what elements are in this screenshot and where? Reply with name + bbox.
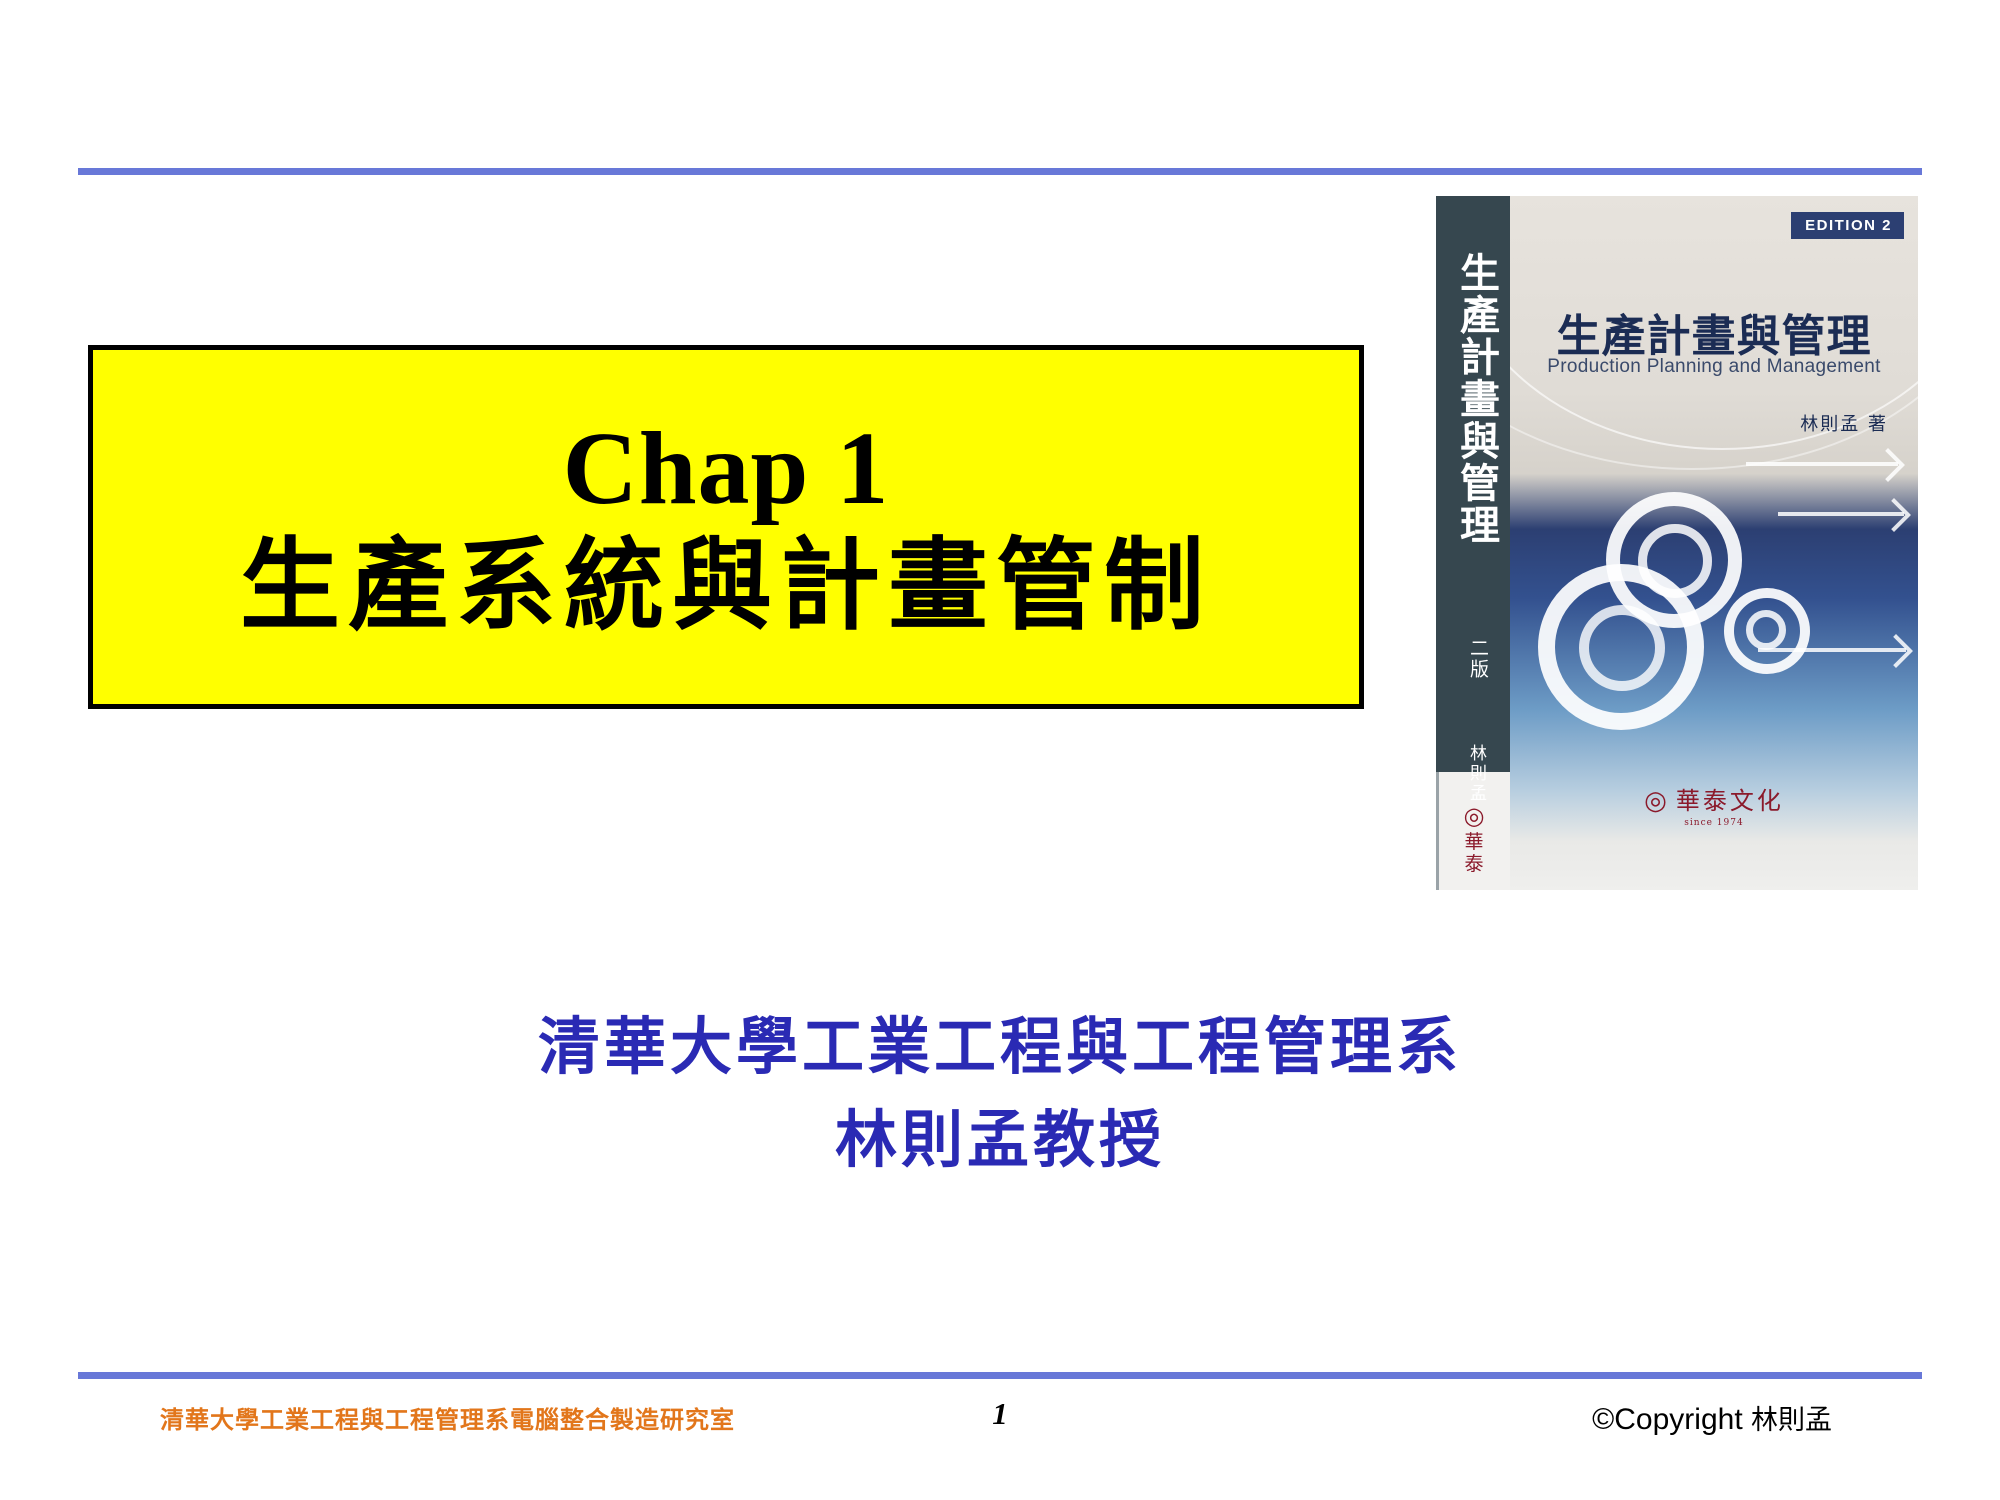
- book-front-author: 林則孟 著: [1800, 410, 1888, 436]
- book-spine-publisher: ◎ 華 泰: [1454, 804, 1494, 876]
- book-spine-title: 生產計畫與管理: [1448, 252, 1498, 546]
- footer-rule: [78, 1372, 1922, 1379]
- book-front-subtitle: Production Planning and Management: [1510, 356, 1918, 378]
- affiliation-professor: 林則孟教授: [0, 1093, 2000, 1186]
- book-spine-author: 林則孟: [1460, 744, 1486, 804]
- affiliation-department: 清華大學工業工程與工程管理系: [0, 1000, 2000, 1093]
- book-cover-image: 生產計畫與管理 二版 林則孟 ◎ 華 泰 EDITION 2 生產計畫與管理 P…: [1436, 196, 1918, 890]
- chapter-title-box: Chap 1 生產系統與計畫管制: [88, 345, 1364, 709]
- footer-copyright: ©Copyright 林則孟: [1592, 1398, 1832, 1437]
- copyright-symbol: ©Copyright: [1592, 1403, 1751, 1436]
- gear-icon-small: [1724, 588, 1810, 674]
- chapter-title: 生產系統與計畫管制: [240, 530, 1212, 640]
- arrow-icon-2: [1778, 512, 1904, 516]
- arrow-icon-1: [1746, 462, 1898, 466]
- book-front-cover: EDITION 2 生產計畫與管理 Production Planning an…: [1510, 196, 1918, 890]
- book-front-title: 生產計畫與管理: [1510, 300, 1918, 364]
- book-spine-publisher-line2: 泰: [1464, 853, 1483, 875]
- publisher-logo-icon-front: ◎: [1644, 786, 1670, 816]
- affiliation-block: 清華大學工業工程與工程管理系 林則孟教授: [0, 1000, 2000, 1186]
- arrow-icon-3: [1758, 648, 1906, 652]
- book-front-publisher: ◎華泰文化 since 1974: [1510, 781, 1918, 828]
- chapter-label: Chap 1: [563, 414, 890, 523]
- gear-icon-large: [1538, 564, 1704, 730]
- header-rule: [78, 168, 1922, 175]
- copyright-holder: 林則孟: [1751, 1405, 1832, 1436]
- book-spine-edition: 二版: [1458, 638, 1488, 680]
- publisher-name: 華泰文化: [1676, 787, 1784, 815]
- publisher-logo-icon: ◎: [1454, 804, 1494, 828]
- edition-badge: EDITION 2: [1791, 212, 1904, 239]
- book-spine-publisher-line1: 華: [1464, 831, 1483, 853]
- publisher-since: since 1974: [1510, 818, 1918, 828]
